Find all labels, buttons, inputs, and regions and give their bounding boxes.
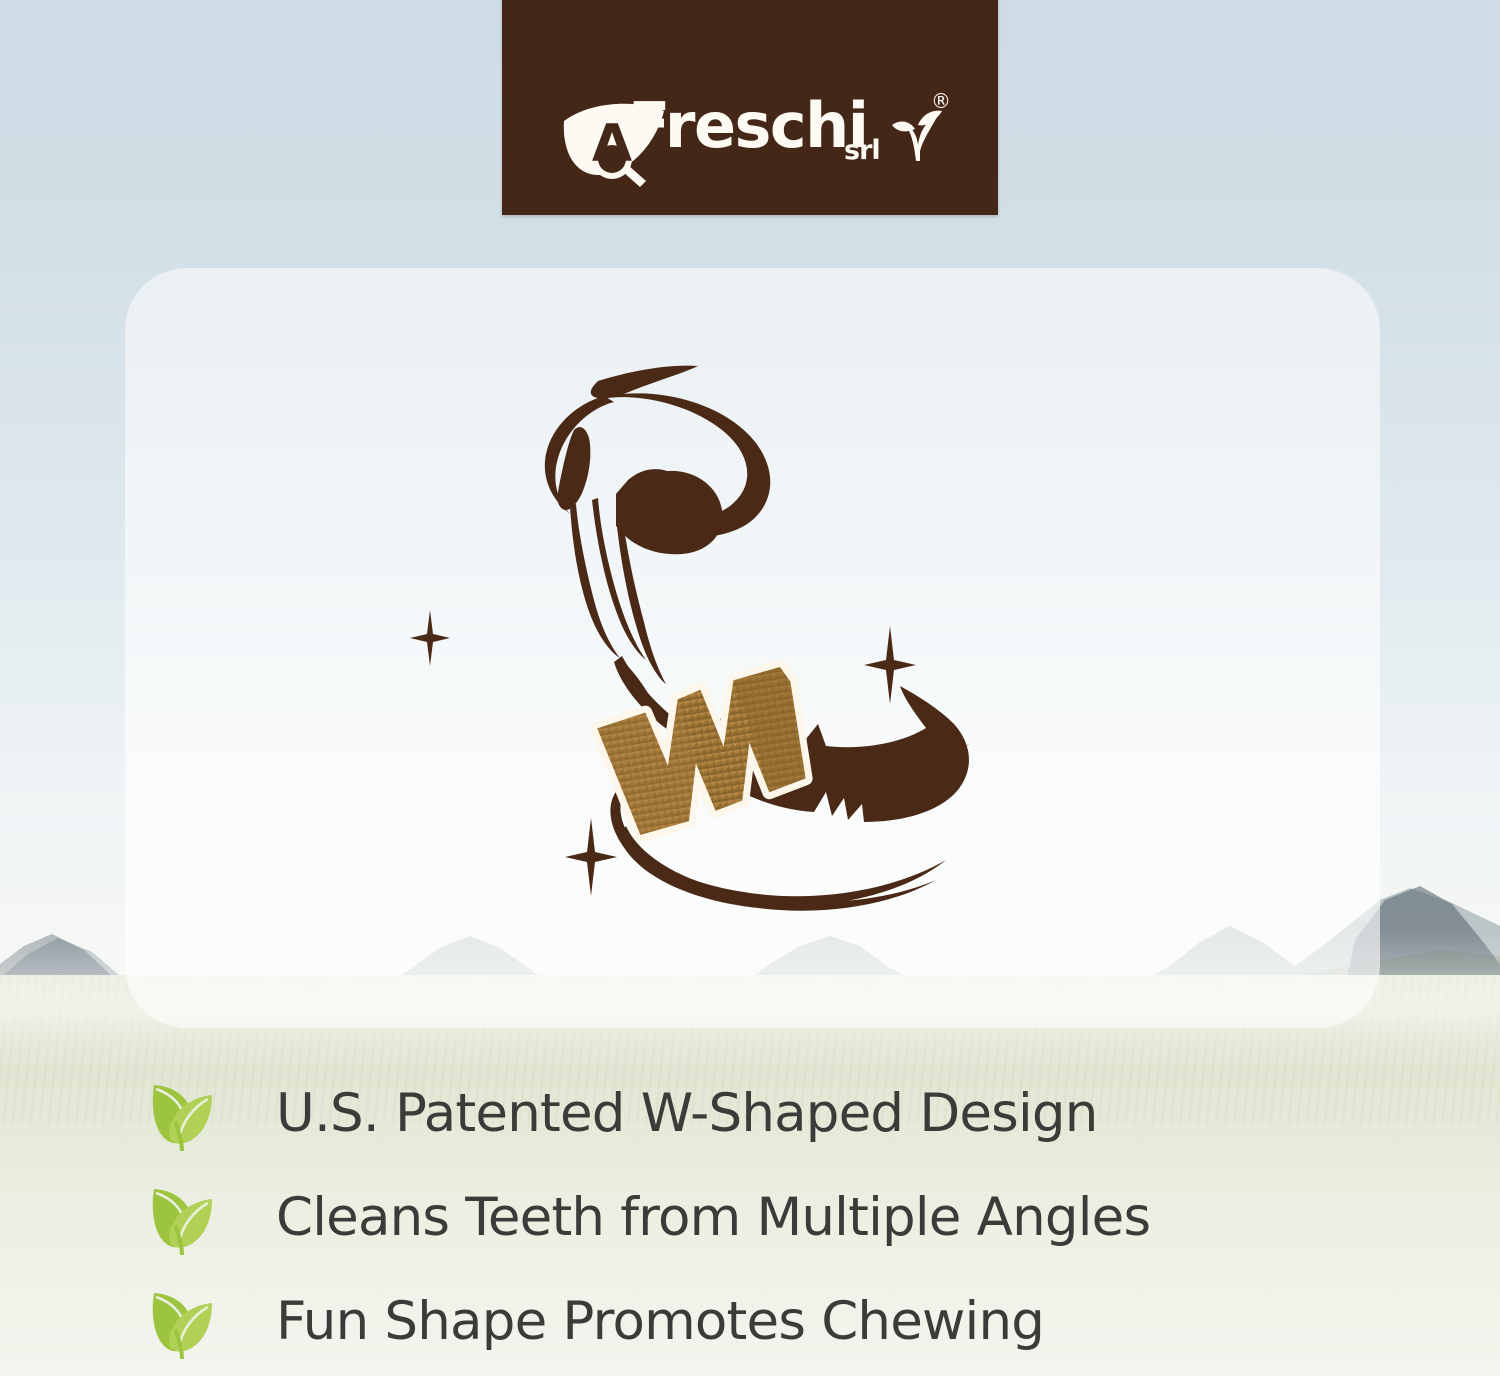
leaf-bullet-icon (146, 1285, 220, 1359)
leaf-bullet-icon (146, 1077, 220, 1151)
sparkle-icon (410, 610, 450, 666)
list-item: Fun Shape Promotes Chewing (146, 1270, 1446, 1374)
feature-label: Fun Shape Promotes Chewing (220, 1293, 1044, 1351)
brand-logo: A Freschi srl ® (560, 93, 940, 185)
feature-label: U.S. Patented W-Shaped Design (220, 1085, 1098, 1143)
leaf-bullet-wrap (146, 1285, 220, 1359)
feature-list: U.S. Patented W-Shaped Design Cleans Tee… (146, 1062, 1446, 1374)
sparkle-icon (565, 818, 617, 896)
dog-jaw-illustration: W (370, 360, 1070, 960)
product-feature-graphic: A Freschi srl ® (0, 0, 1500, 1376)
leaf-bullet-icon (146, 1181, 220, 1255)
brand-banner: A Freschi srl ® (502, 0, 998, 215)
leaf-bullet-wrap (146, 1181, 220, 1255)
list-item: U.S. Patented W-Shaped Design (146, 1062, 1446, 1166)
brand-suffix: srl (844, 135, 880, 166)
leaf-bullet-wrap (146, 1077, 220, 1151)
registered-mark-icon: ® (931, 91, 951, 111)
brand-wordmark: Freschi (628, 95, 868, 157)
feature-label: Cleans Teeth from Multiple Angles (220, 1189, 1150, 1247)
leaf-logo-letter: A (592, 114, 632, 174)
list-item: Cleans Teeth from Multiple Angles (146, 1166, 1446, 1270)
